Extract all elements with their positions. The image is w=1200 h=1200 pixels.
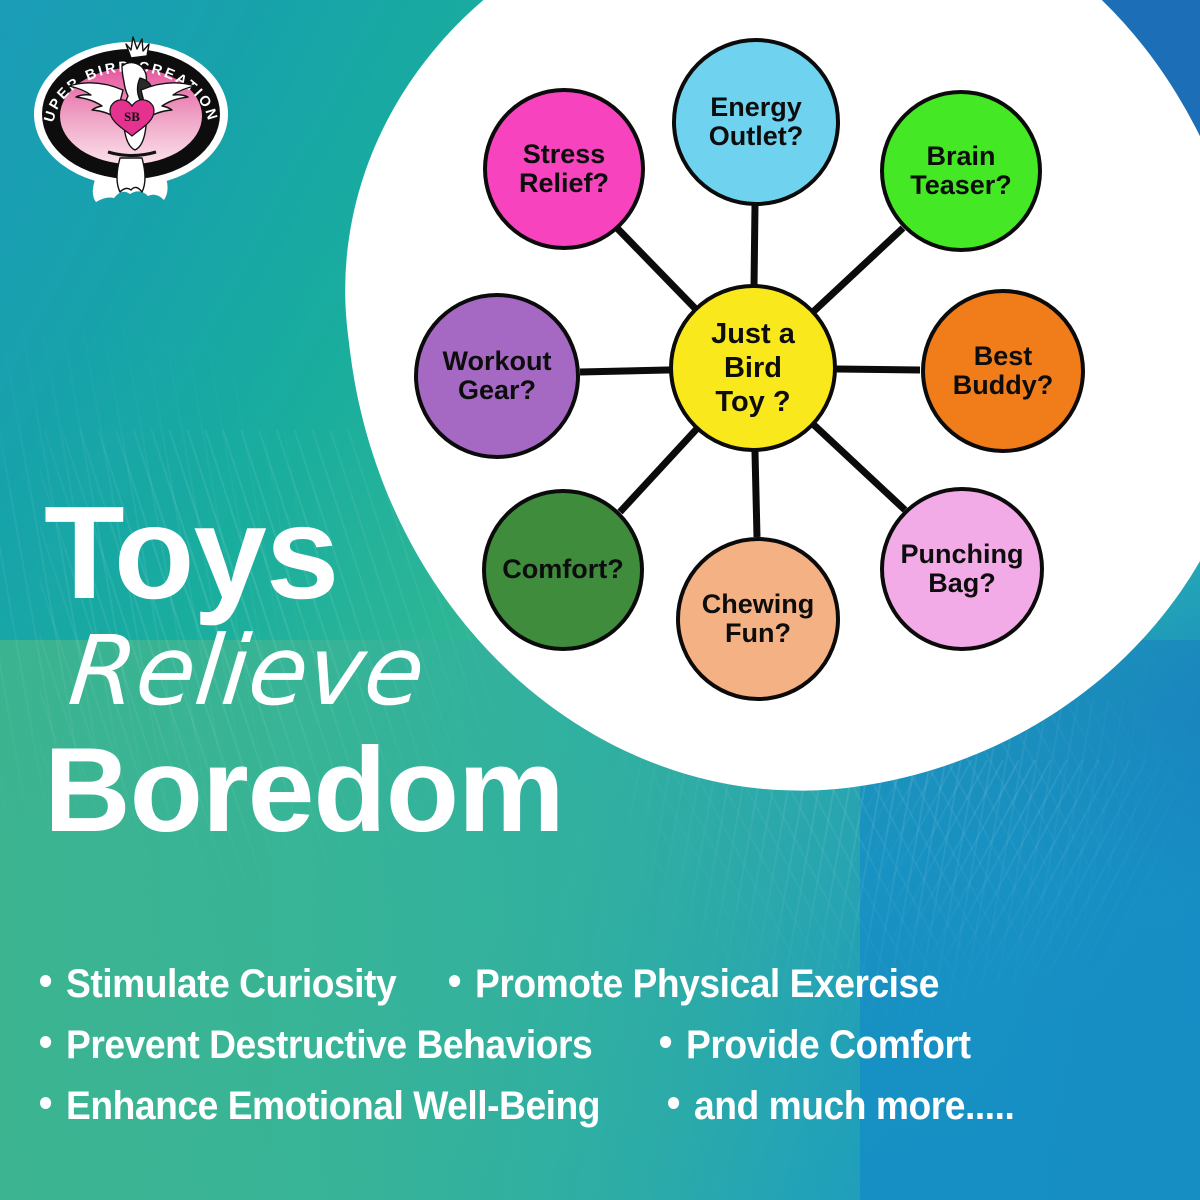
benefits-list: Stimulate Curiosity Promote Physical Exe…	[40, 962, 1168, 1145]
headline-line-2: Relieve	[65, 623, 729, 721]
mindmap-node-center[interactable]: Just aBirdToy ?	[669, 284, 837, 452]
benefit-item: Prevent Destructive Behaviors	[40, 1023, 592, 1068]
bullet-dot-icon	[40, 1097, 51, 1109]
mindmap-node-stress-relief[interactable]: StressRelief?	[483, 88, 645, 250]
headline-line-1: Toys	[44, 492, 724, 613]
mindmap-node-brain-teaser[interactable]: BrainTeaser?	[880, 90, 1042, 252]
bullet-dot-icon	[40, 1036, 51, 1048]
benefit-label: Promote Physical Exercise	[475, 962, 939, 1007]
headline-line-3: Boredom	[44, 733, 724, 847]
node-label: EnergyOutlet?	[703, 93, 810, 151]
node-label: BrainTeaser?	[904, 142, 1018, 200]
super-bird-creations-logo[interactable]: SUPER BIRD CREATIONS SB	[28, 22, 233, 207]
benefits-row: Enhance Emotional Well-Being and much mo…	[40, 1084, 1168, 1129]
node-label: BestBuddy?	[947, 342, 1060, 400]
bullet-dot-icon	[668, 1097, 679, 1109]
bullet-dot-icon	[40, 975, 51, 987]
benefit-label: Provide Comfort	[686, 1023, 970, 1068]
node-label: PunchingBag?	[895, 540, 1030, 598]
mindmap-node-energy-outlet[interactable]: EnergyOutlet?	[672, 38, 840, 206]
benefit-item: and much more.....	[668, 1084, 1014, 1129]
bullet-dot-icon	[449, 975, 460, 987]
benefit-label: Enhance Emotional Well-Being	[66, 1084, 600, 1129]
node-center-label: Just aBirdToy ?	[705, 317, 801, 420]
mindmap-node-workout-gear[interactable]: WorkoutGear?	[414, 293, 580, 459]
logo-svg: SUPER BIRD CREATIONS SB	[28, 22, 233, 207]
poster-canvas: SUPER BIRD CREATIONS SB	[0, 0, 1200, 1200]
bullet-dot-icon	[660, 1036, 671, 1048]
benefit-item: Stimulate Curiosity	[40, 962, 396, 1007]
logo-monogram: SB	[124, 109, 140, 124]
benefits-row: Prevent Destructive Behaviors Provide Co…	[40, 1023, 1168, 1068]
mindmap-node-best-buddy[interactable]: BestBuddy?	[921, 289, 1085, 453]
benefit-label: Stimulate Curiosity	[66, 962, 396, 1007]
benefit-item: Provide Comfort	[660, 1023, 970, 1068]
mindmap-node-punching-bag[interactable]: PunchingBag?	[880, 487, 1044, 651]
node-label: WorkoutGear?	[437, 347, 558, 405]
benefit-label: and much more.....	[694, 1084, 1014, 1129]
benefit-item: Promote Physical Exercise	[449, 962, 939, 1007]
benefit-item: Enhance Emotional Well-Being	[40, 1084, 600, 1129]
headline-block: Toys Relieve Boredom	[44, 492, 724, 847]
benefit-label: Prevent Destructive Behaviors	[66, 1023, 592, 1068]
node-label: StressRelief?	[513, 140, 615, 198]
benefits-row: Stimulate Curiosity Promote Physical Exe…	[40, 962, 1168, 1007]
